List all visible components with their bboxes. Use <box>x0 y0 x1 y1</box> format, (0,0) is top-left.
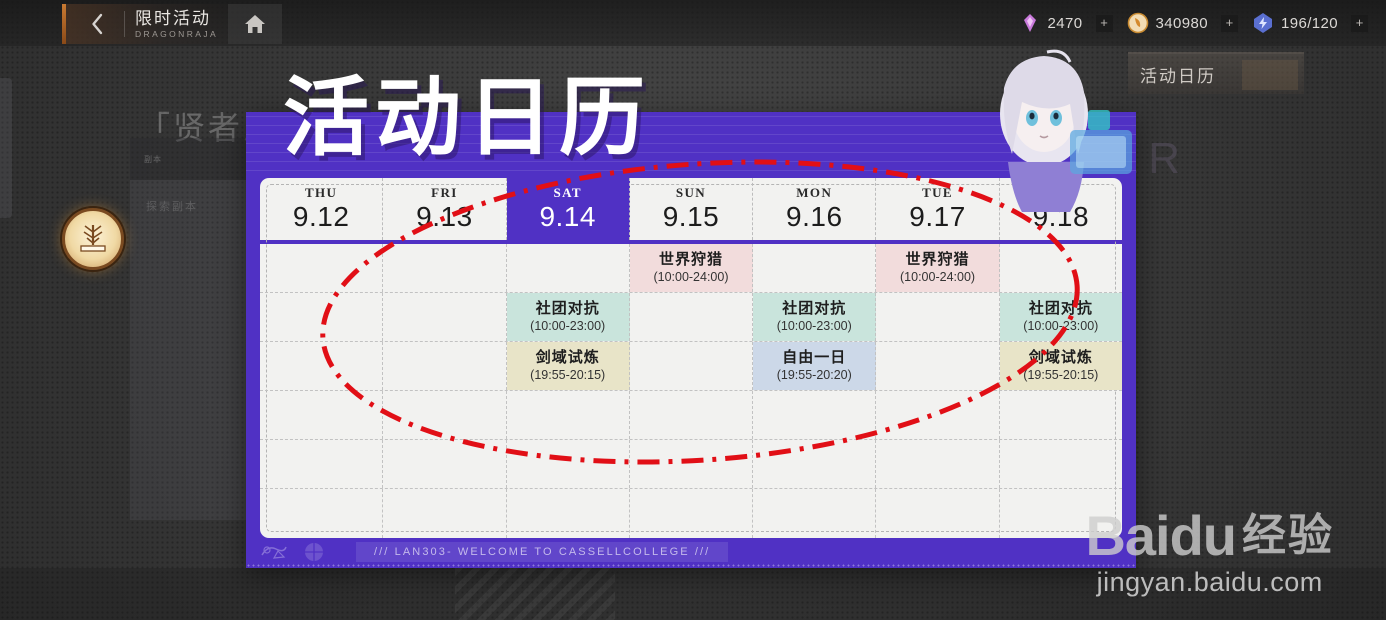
calendar-empty-cell <box>876 440 999 488</box>
event-time: (10:00-24:00) <box>900 269 975 285</box>
calendar-header-dow: MON <box>796 185 832 201</box>
tab-activity-calendar-label: 活动日历 <box>1140 62 1216 87</box>
calendar-empty-cell <box>507 440 630 488</box>
calendar-empty-cell <box>630 342 753 390</box>
calendar-empty-cell <box>260 293 383 341</box>
currency-gold-value: 340980 <box>1156 15 1208 32</box>
watermark-logo-row: Baidu 经验 <box>1085 507 1334 565</box>
calendar-empty-cell <box>1000 391 1122 439</box>
calendar-empty-cell <box>753 489 876 538</box>
calendar-empty-cell <box>260 489 383 538</box>
calendar-event-cell[interactable]: 世界狩猎(10:00-24:00) <box>630 244 753 292</box>
top-bar: 限时活动 DRAGONRAJA 2470 + 340980 + <box>0 0 1386 46</box>
calendar-header-cell-fri[interactable]: FRI9.13 <box>383 178 506 240</box>
calendar-body: 世界狩猎(10:00-24:00)世界狩猎(10:00-24:00)社团对抗(1… <box>260 244 1122 538</box>
calendar-empty-cell <box>876 293 999 341</box>
calendar-grid: THU9.12FRI9.13SAT9.14SUN9.15MON9.16TUE9.… <box>260 178 1122 538</box>
watermark-baidu: Baidu <box>1085 507 1236 565</box>
calendar-header-date: 9.14 <box>539 201 596 233</box>
calendar-empty-cell <box>630 391 753 439</box>
tree-emblem-icon[interactable] <box>62 208 124 270</box>
calendar-event-cell[interactable]: 社团对抗(10:00-23:00) <box>1000 293 1122 341</box>
calendar-empty-cell <box>507 391 630 439</box>
calendar-empty-cell <box>260 391 383 439</box>
calendar-empty-cell <box>260 244 383 292</box>
currency-bar: 2470 + 340980 + 196/120 + <box>1005 10 1368 36</box>
event-name: 剑域试炼 <box>1029 349 1093 367</box>
calendar-empty-cell <box>1000 244 1122 292</box>
calendar-empty-cell <box>507 244 630 292</box>
calendar-row: 社团对抗(10:00-23:00)社团对抗(10:00-23:00)社团对抗(1… <box>260 293 1122 342</box>
currency-energy[interactable]: 196/120 + <box>1252 12 1368 34</box>
left-side-tab[interactable] <box>0 78 12 218</box>
calendar-empty-cell <box>630 440 753 488</box>
nav-title-cn: 限时活动 <box>135 9 218 28</box>
calendar-row <box>260 440 1122 489</box>
calendar-header-cell-thu[interactable]: THU9.12 <box>260 178 383 240</box>
calendar-header-cell-sun[interactable]: SUN9.15 <box>630 178 753 240</box>
calendar-event-cell[interactable]: 自由一日(19:55-20:20) <box>753 342 876 390</box>
nav-group: 限时活动 DRAGONRAJA <box>62 4 244 44</box>
calendar-event-cell[interactable]: 世界狩猎(10:00-24:00) <box>876 244 999 292</box>
diamond-icon <box>1019 12 1041 34</box>
gold-coin-icon <box>1127 12 1149 34</box>
calendar-header-dow: FRI <box>431 185 458 201</box>
calendar-header-cell-sat[interactable]: SAT9.14 <box>507 178 630 240</box>
event-time: (19:55-20:15) <box>530 367 605 383</box>
chevron-left-icon <box>90 13 105 35</box>
school-crest-icon <box>300 541 328 563</box>
home-icon <box>243 12 267 36</box>
calendar-empty-cell <box>383 342 506 390</box>
event-name: 世界狩猎 <box>659 251 723 269</box>
event-name: 社团对抗 <box>1029 300 1093 318</box>
watermark-url: jingyan.baidu.com <box>1085 567 1334 598</box>
calendar-header-dow: THU <box>305 185 337 201</box>
calendar-event-cell[interactable]: 社团对抗(10:00-23:00) <box>753 293 876 341</box>
nav-title-en: DRAGONRAJA <box>135 28 218 40</box>
currency-energy-add[interactable]: + <box>1351 15 1368 32</box>
event-name: 社团对抗 <box>536 300 600 318</box>
calendar-row: 世界狩猎(10:00-24:00)世界狩猎(10:00-24:00) <box>260 244 1122 293</box>
calendar-empty-cell <box>876 342 999 390</box>
calendar-empty-cell <box>260 342 383 390</box>
calendar-empty-cell <box>507 489 630 538</box>
event-name: 社团对抗 <box>782 300 846 318</box>
tab-activity-calendar[interactable]: 活动日历 <box>1128 52 1304 94</box>
calendar-empty-cell <box>630 293 753 341</box>
calendar-header-date: 9.16 <box>786 201 843 233</box>
calendar-header-dow: TUE <box>922 185 953 201</box>
event-name: 世界狩猎 <box>906 251 970 269</box>
currency-diamond-add[interactable]: + <box>1096 15 1113 32</box>
event-time: (19:55-20:15) <box>1023 367 1098 383</box>
home-button[interactable] <box>228 4 282 44</box>
calendar-footer-banner: /// LAN303- WELCOME TO CASSELLCOLLEGE //… <box>356 542 728 562</box>
event-time: (10:00-23:00) <box>1023 318 1098 334</box>
baidu-watermark: Baidu 经验 jingyan.baidu.com <box>1085 507 1334 598</box>
calendar-event-cell[interactable]: 社团对抗(10:00-23:00) <box>507 293 630 341</box>
bottom-hatch-decor <box>455 568 615 620</box>
currency-diamond-value: 2470 <box>1048 15 1083 32</box>
calendar-empty-cell <box>383 489 506 538</box>
calendar-row: 剑域试炼(19:55-20:15)自由一日(19:55-20:20)剑域试炼(1… <box>260 342 1122 391</box>
energy-icon <box>1252 12 1274 34</box>
event-name: 剑域试炼 <box>536 349 600 367</box>
calendar-header-cell-mon[interactable]: MON9.16 <box>753 178 876 240</box>
calendar-header-dow: SAT <box>553 185 582 201</box>
page-title: 活动日历 <box>283 72 651 164</box>
calendar-footer-dots <box>246 563 1136 568</box>
currency-energy-value: 196/120 <box>1281 15 1338 32</box>
currency-diamond[interactable]: 2470 + <box>1019 12 1113 34</box>
calendar-empty-cell <box>383 244 506 292</box>
calendar-empty-cell <box>753 391 876 439</box>
calendar-footer-text: /// LAN303- WELCOME TO CASSELLCOLLEGE //… <box>374 546 710 558</box>
calendar-empty-cell <box>630 489 753 538</box>
event-name: 自由一日 <box>782 349 846 367</box>
tab-thumbnail <box>1242 60 1298 90</box>
nav-divider <box>124 11 125 37</box>
event-time: (10:00-23:00) <box>777 318 852 334</box>
dragon-crest-icon <box>260 541 288 563</box>
calendar-row <box>260 489 1122 538</box>
event-time: (10:00-23:00) <box>530 318 605 334</box>
calendar-header-date: 9.13 <box>416 201 473 233</box>
calendar-event-cell[interactable]: 剑域试炼(19:55-20:15) <box>1000 342 1122 390</box>
event-time: (19:55-20:20) <box>777 367 852 383</box>
calendar-header-date: 9.12 <box>293 201 350 233</box>
back-button[interactable] <box>80 4 114 44</box>
calendar-empty-cell <box>383 391 506 439</box>
calendar-row <box>260 391 1122 440</box>
nav-accent-bar <box>62 4 66 44</box>
calendar-header-date: 9.15 <box>663 201 720 233</box>
currency-gold-add[interactable]: + <box>1221 15 1238 32</box>
calendar-empty-cell <box>876 391 999 439</box>
watermark-jingyan-cn: 经验 <box>1242 507 1334 565</box>
mascot-character <box>952 44 1142 214</box>
calendar-empty-cell <box>1000 440 1122 488</box>
tree-emblem-glyph <box>73 219 113 259</box>
calendar-event-cell[interactable]: 剑域试炼(19:55-20:15) <box>507 342 630 390</box>
calendar-header-dow: SUN <box>676 185 706 201</box>
event-time: (10:00-24:00) <box>653 269 728 285</box>
calendar-empty-cell <box>260 440 383 488</box>
calendar-empty-cell <box>753 244 876 292</box>
calendar-empty-cell <box>383 440 506 488</box>
calendar-empty-cell <box>876 489 999 538</box>
calendar-empty-cell <box>753 440 876 488</box>
currency-gold[interactable]: 340980 + <box>1127 12 1238 34</box>
calendar-empty-cell <box>383 293 506 341</box>
